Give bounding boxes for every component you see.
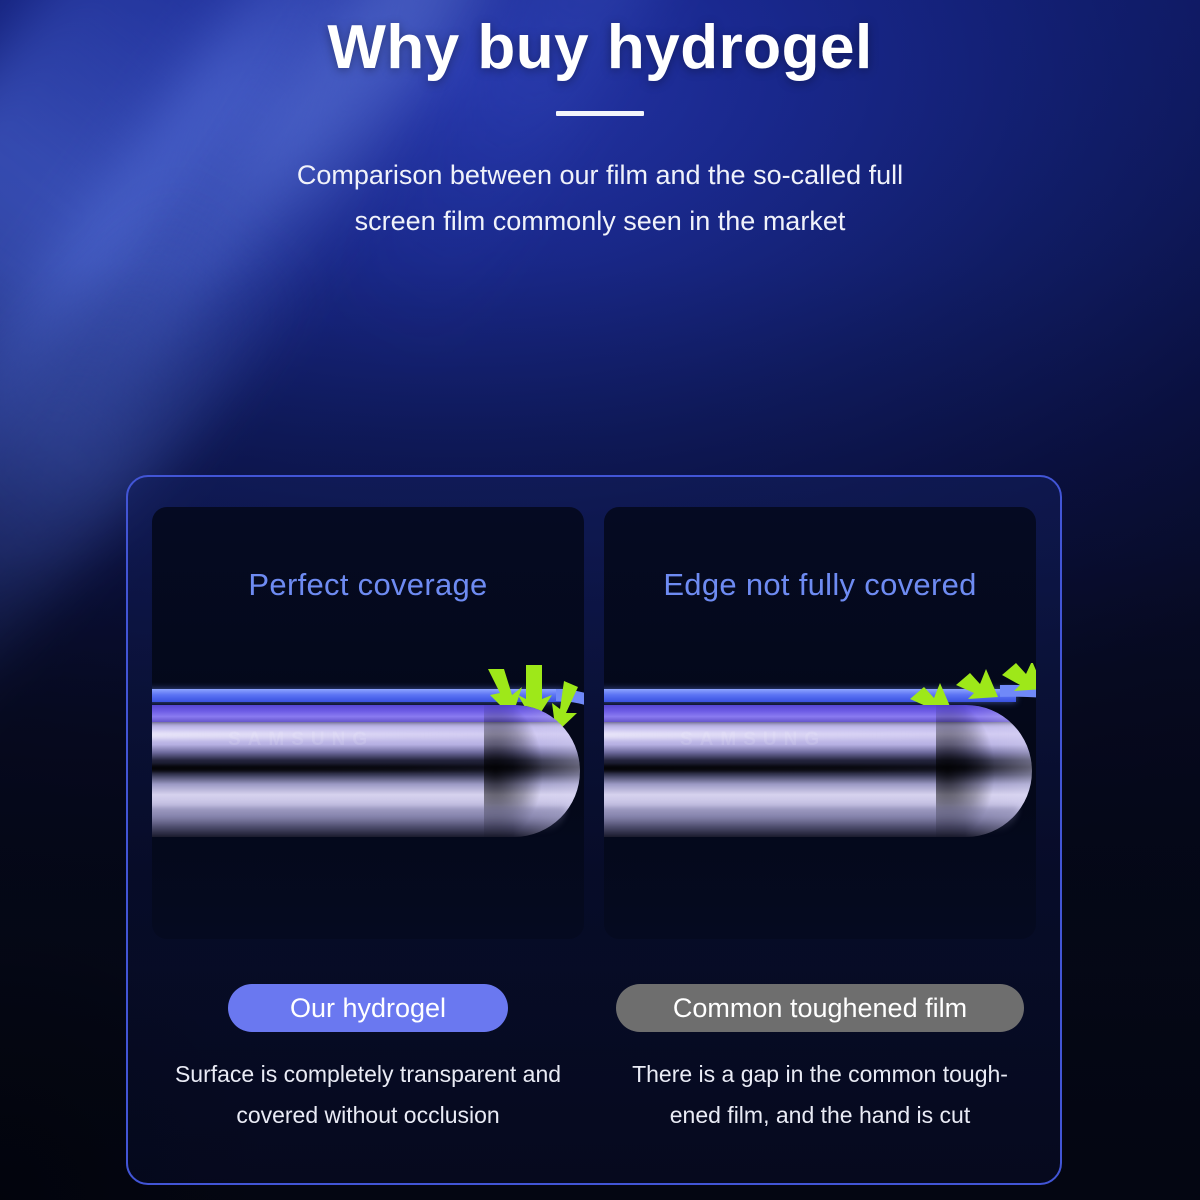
caption-ours-line-1: Surface is completely transparent and bbox=[158, 1054, 578, 1095]
page-title: Why buy hydrogel bbox=[0, 0, 1200, 83]
caption-other: There is a gap in the common tough- ened… bbox=[610, 1054, 1030, 1136]
phone-brand-emboss: SAMSUNG bbox=[228, 729, 374, 751]
page-subtitle-line-1: Comparison between our film and the so-c… bbox=[220, 152, 980, 198]
caption-other-line-1: There is a gap in the common tough- bbox=[610, 1054, 1030, 1095]
page-subtitle: Comparison between our film and the so-c… bbox=[220, 152, 980, 244]
phone-illustration-ours: SAMSUNG bbox=[152, 657, 584, 877]
panel-title-ours: Perfect coverage bbox=[152, 567, 584, 603]
phone-underside-glow bbox=[152, 807, 566, 833]
header: Why buy hydrogel Comparison between our … bbox=[0, 0, 1200, 244]
phone-illustration-other: SAMSUNG bbox=[604, 657, 1036, 877]
phone-brand-emboss: SAMSUNG bbox=[680, 729, 826, 751]
badge-ours: Our hydrogel bbox=[228, 984, 508, 1032]
caption-other-line-2: ened film, and the hand is cut bbox=[610, 1095, 1030, 1136]
panel-title-other: Edge not fully covered bbox=[604, 567, 1036, 603]
page-subtitle-line-2: screen film commonly seen in the market bbox=[220, 198, 980, 244]
caption-ours-line-2: covered without occlusion bbox=[158, 1095, 578, 1136]
title-divider bbox=[556, 111, 644, 116]
comparison-column-ours: Perfect coverage bbox=[152, 507, 584, 1183]
product-comparison-page: Why buy hydrogel Comparison between our … bbox=[0, 0, 1200, 1200]
badge-other: Common toughened film bbox=[616, 984, 1024, 1032]
caption-ours: Surface is completely transparent and co… bbox=[158, 1054, 578, 1136]
illustration-panel-other: Edge not fully covered bbox=[604, 507, 1036, 939]
phone-underside-glow bbox=[604, 807, 1018, 833]
comparison-card: Perfect coverage bbox=[126, 475, 1062, 1185]
comparison-column-other: Edge not fully covered bbox=[604, 507, 1036, 1183]
illustration-panel-ours: Perfect coverage bbox=[152, 507, 584, 939]
